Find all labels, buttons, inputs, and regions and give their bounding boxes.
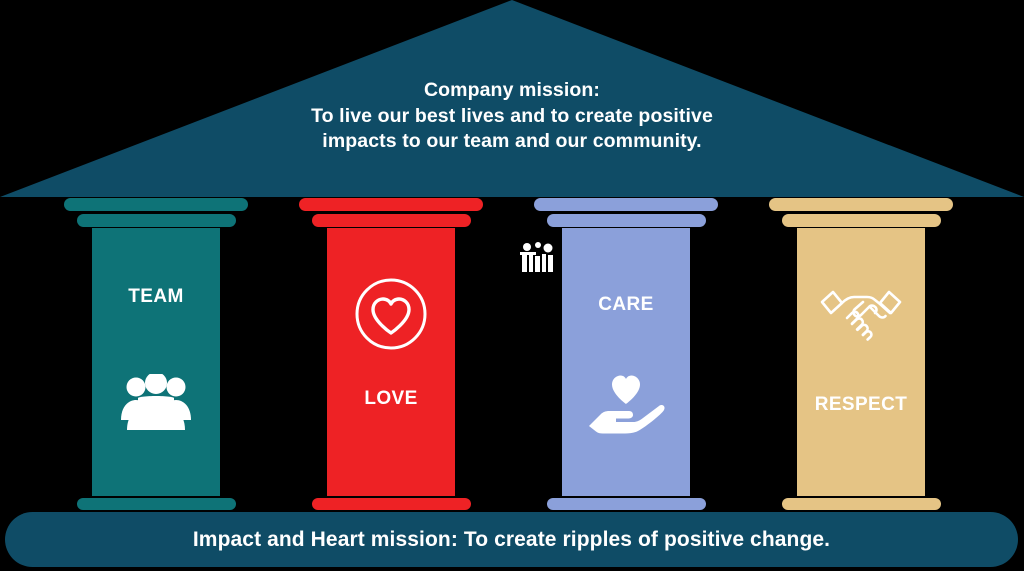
infographic-canvas: Company mission: To live our best lives …	[0, 0, 1024, 571]
mission-line-3: impacts to our team and our community.	[0, 129, 1024, 155]
pillar-label-respect: RESPECT	[769, 394, 953, 416]
pillar-love[interactable]: LOVE	[299, 198, 483, 513]
pillar-capital-upper	[299, 198, 483, 211]
mission-line-2: To live our best lives and to create pos…	[0, 104, 1024, 130]
pillar-base	[77, 498, 236, 510]
pillar-team[interactable]: TEAM	[64, 198, 248, 513]
heart-in-circle-icon	[299, 276, 483, 352]
pillar-base	[547, 498, 706, 510]
pillar-care[interactable]: CARE	[534, 198, 718, 513]
pillar-shaft	[797, 228, 925, 496]
pillar-capital-upper	[534, 198, 718, 211]
pillar-label-care: CARE	[534, 294, 718, 316]
pediment-roof: Company mission: To live our best lives …	[0, 0, 1024, 197]
pillar-capital-upper	[769, 198, 953, 211]
pillar-capital-lower	[77, 214, 236, 227]
pillar-shaft	[92, 228, 220, 496]
pillar-capital-lower	[312, 214, 471, 227]
banner-text: Impact and Heart mission: To create ripp…	[193, 528, 830, 552]
company-mission-text: Company mission: To live our best lives …	[0, 78, 1024, 155]
pillar-shaft	[327, 228, 455, 496]
pillar-label-team: TEAM	[64, 286, 248, 308]
pillar-capital-lower	[782, 214, 941, 227]
pillar-base	[782, 498, 941, 510]
pillar-base	[312, 498, 471, 510]
heart-in-hand-icon	[534, 370, 718, 434]
bottom-mission-banner: Impact and Heart mission: To create ripp…	[5, 512, 1018, 567]
handshake-icon	[769, 280, 953, 346]
mission-heading: Company mission:	[0, 78, 1024, 104]
pillar-shaft	[562, 228, 690, 496]
pillar-label-love: LOVE	[299, 388, 483, 410]
pillar-respect[interactable]: RESPECT	[769, 198, 953, 513]
pillar-capital-upper	[64, 198, 248, 211]
people-group-icon	[64, 374, 248, 430]
small-people-glyph-icon	[517, 240, 557, 276]
pillar-capital-lower	[547, 214, 706, 227]
